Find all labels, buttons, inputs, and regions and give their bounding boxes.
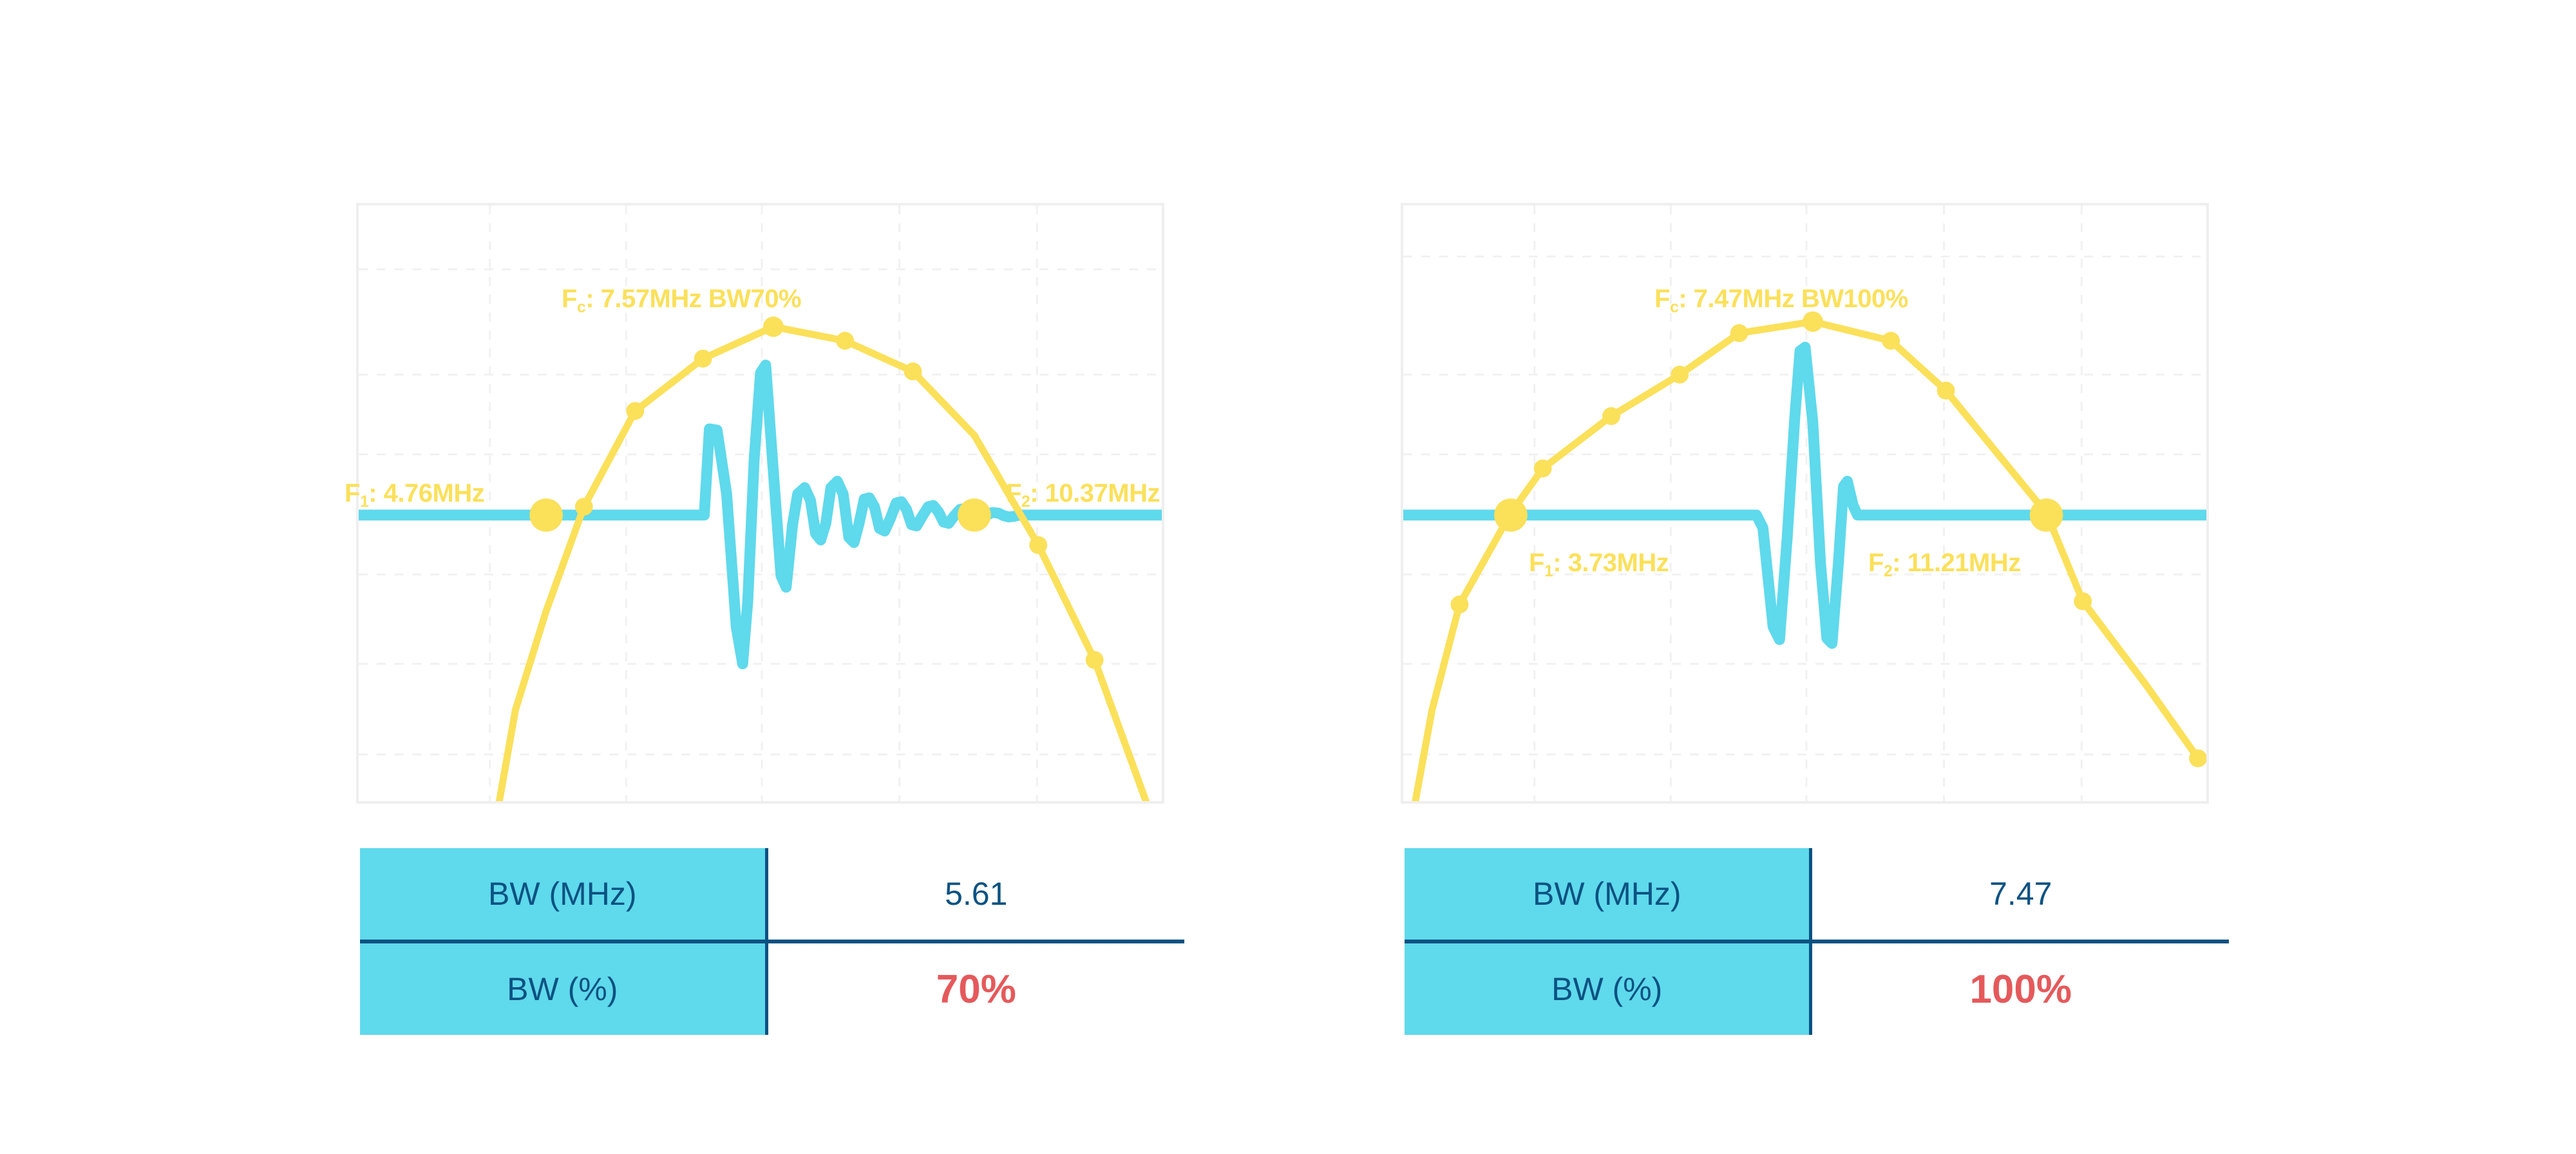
bandwidth-table-100: BW (MHz) 7.47 BW (%) 100% xyxy=(1405,848,2229,1035)
f2-symbol-70: F xyxy=(1006,479,1021,507)
table-row: BW (MHz) 7.47 xyxy=(1405,848,2229,941)
row-value-bw-mhz-100: 7.47 xyxy=(1811,848,2229,941)
f2-subscript-100: 2 xyxy=(1884,563,1892,580)
table-row: BW (%) 100% xyxy=(1405,941,2229,1035)
table-row: BW (MHz) 5.61 xyxy=(360,848,1184,941)
annotation-lower-cutoff-100: F1: 3.73MHz xyxy=(1529,550,1669,576)
annotation-center-frequency-70: Fc: 7.57MHz BW70% xyxy=(562,286,801,312)
row-label-bw-percent-70: BW (%) xyxy=(360,941,766,1035)
marker-f2-100 xyxy=(2030,498,2063,532)
f2-text-100: : 11.21MHz xyxy=(1892,549,2021,577)
f1-symbol-100: F xyxy=(1529,549,1544,577)
annotation-lower-cutoff-70: F1: 4.76MHz xyxy=(345,480,484,506)
panel-bw-70: Fc: 7.57MHz BW70% F1: 4.76MHz F2: 10.37M… xyxy=(356,203,1164,804)
f1-subscript-100: 1 xyxy=(1544,563,1553,580)
spectrum-plot-bw-100: Fc: 7.47MHz BW100% F1: 3.73MHz F2: 11.21… xyxy=(1401,203,2209,804)
row-label-bw-percent-100: BW (%) xyxy=(1405,941,1811,1035)
fc-subscript-70: c xyxy=(577,299,585,316)
f1-text-70: : 4.76MHz xyxy=(368,479,484,507)
f2-symbol-100: F xyxy=(1868,549,1884,577)
panel-bw-100: Fc: 7.47MHz BW100% F1: 3.73MHz F2: 11.21… xyxy=(1401,203,2209,804)
marker-f1-100 xyxy=(1494,498,1528,532)
fc-symbol-70: F xyxy=(562,285,577,313)
figure-canvas: Fc: 7.57MHz BW70% F1: 4.76MHz F2: 10.37M… xyxy=(0,0,2576,1154)
fc-subscript-100: c xyxy=(1670,299,1678,316)
marker-f1-70 xyxy=(529,498,563,532)
fc-text-100: : 7.47MHz BW100% xyxy=(1678,285,1908,313)
row-value-bw-percent-70: 70% xyxy=(766,941,1184,1035)
spectrum-markers-100 xyxy=(1451,312,2206,768)
pulse-waveform-70 xyxy=(359,365,1162,664)
f2-text-70: : 10.37MHz xyxy=(1030,479,1160,507)
row-value-bw-mhz-70: 5.61 xyxy=(766,848,1184,941)
annotation-center-frequency-100: Fc: 7.47MHz BW100% xyxy=(1654,286,1908,312)
fc-symbol-100: F xyxy=(1654,285,1670,313)
row-label-bw-mhz-70: BW (MHz) xyxy=(360,848,766,941)
row-label-bw-mhz-100: BW (MHz) xyxy=(1405,848,1811,941)
spectrum-plot-bw-70: Fc: 7.57MHz BW70% F1: 4.76MHz F2: 10.37M… xyxy=(356,203,1164,804)
f1-subscript-70: 1 xyxy=(360,493,368,511)
f1-symbol-70: F xyxy=(345,479,360,507)
annotation-upper-cutoff-100: F2: 11.21MHz xyxy=(1868,550,2021,576)
spectrum-curve-70 xyxy=(497,326,1152,801)
annotation-upper-cutoff-70: F2: 10.37MHz xyxy=(1006,480,1160,506)
table-row: BW (%) 70% xyxy=(360,941,1184,1035)
f2-subscript-70: 2 xyxy=(1021,493,1030,511)
marker-f2-70 xyxy=(958,498,991,532)
f1-text-100: : 3.73MHz xyxy=(1553,549,1669,577)
row-value-bw-percent-100: 100% xyxy=(1811,941,2229,1035)
bandwidth-table-70: BW (MHz) 5.61 BW (%) 70% xyxy=(360,848,1184,1035)
fc-text-70: : 7.57MHz BW70% xyxy=(585,285,801,313)
